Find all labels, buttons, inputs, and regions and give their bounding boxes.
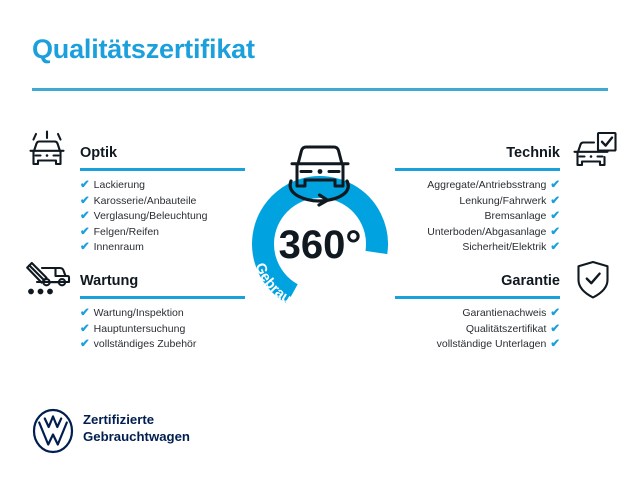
list-item: vollständige Unterlagen✔ bbox=[388, 337, 560, 353]
list-item-label: Bremsanlage bbox=[484, 210, 546, 222]
check-icon: ✔ bbox=[80, 210, 90, 222]
check-list-technik: Aggregate/Antriebsstrang✔ Lenkung/Fahrwe… bbox=[388, 178, 560, 256]
list-item-label: Garantienachweis bbox=[462, 307, 546, 319]
qualitaetszertifikat-page: Qualitätszertifikat Optik bbox=[0, 0, 640, 480]
check-icon: ✔ bbox=[550, 226, 560, 238]
check-icon: ✔ bbox=[80, 323, 90, 335]
section-title-technik: Technik bbox=[506, 145, 560, 161]
list-item-label: Karosserie/Anbauteile bbox=[94, 195, 197, 207]
list-item: ✔Felgen/Reifen bbox=[80, 225, 252, 241]
list-item-label: Unterboden/Abgasanlage bbox=[427, 226, 546, 238]
list-item: ✔Innenraum bbox=[80, 240, 252, 256]
list-item-label: Felgen/Reifen bbox=[94, 226, 159, 238]
badge-degrees-label: 360° bbox=[279, 223, 362, 267]
list-item: ✔Verglasung/Beleuchtung bbox=[80, 209, 252, 225]
list-item: ✔Lackierung bbox=[80, 178, 252, 194]
list-item: ✔Wartung/Inspektion bbox=[80, 306, 252, 322]
check-icon: ✔ bbox=[550, 241, 560, 253]
check-icon: ✔ bbox=[80, 241, 90, 253]
volkswagen-logo-icon bbox=[31, 408, 75, 454]
list-item: Qualitätszertifikat✔ bbox=[388, 322, 560, 338]
check-list-wartung: ✔Wartung/Inspektion ✔Hauptuntersuchung ✔… bbox=[80, 306, 252, 353]
list-item-label: Qualitätszertifikat bbox=[466, 323, 547, 335]
list-item: Lenkung/Fahrwerk✔ bbox=[388, 194, 560, 210]
list-item-label: Lenkung/Fahrwerk bbox=[459, 195, 546, 207]
footer-line-2: Gebrauchtwagen bbox=[83, 428, 190, 445]
list-item: Sicherheit/Elektrik✔ bbox=[388, 240, 560, 256]
check-icon: ✔ bbox=[80, 338, 90, 350]
list-item-label: vollständige Unterlagen bbox=[437, 338, 547, 350]
car-checkbox-icon bbox=[568, 130, 618, 176]
page-title: Qualitätszertifikat bbox=[32, 34, 255, 65]
list-item-label: Aggregate/Antriebsstrang bbox=[427, 179, 546, 191]
footer-line-1: Zertifizierte bbox=[83, 411, 190, 428]
section-divider-wartung bbox=[80, 296, 245, 299]
section-divider-technik bbox=[395, 168, 560, 171]
list-item: Garantienachweis✔ bbox=[388, 306, 560, 322]
section-header-technik: Technik bbox=[388, 130, 618, 178]
list-item-label: Lackierung bbox=[94, 179, 145, 191]
list-item: Unterboden/Abgasanlage✔ bbox=[388, 225, 560, 241]
check-icon: ✔ bbox=[80, 179, 90, 191]
shield-check-icon bbox=[568, 258, 618, 304]
section-title-optik: Optik bbox=[80, 145, 117, 161]
section-technik: Technik Aggregate/Antriebsstrang✔ Lenkun… bbox=[388, 130, 618, 256]
section-garantie: Garantie Garantienachweis✔ Qualitätszert… bbox=[388, 258, 618, 353]
service-pen-car-icon bbox=[22, 258, 72, 304]
check-list-optik: ✔Lackierung ✔Karosserie/Anbauteile ✔Verg… bbox=[80, 178, 252, 256]
check-icon: ✔ bbox=[550, 307, 560, 319]
list-item-label: Verglasung/Beleuchtung bbox=[94, 210, 208, 222]
footer-lockup-text: Zertifizierte Gebrauchtwagen bbox=[83, 411, 190, 445]
list-item: ✔Karosserie/Anbauteile bbox=[80, 194, 252, 210]
badge-360-gebrauchtwagen-check: 360° Gebrauchtwagen-Check bbox=[228, 118, 412, 318]
section-divider-garantie bbox=[395, 296, 560, 299]
list-item: ✔Hauptuntersuchung bbox=[80, 322, 252, 338]
check-icon: ✔ bbox=[550, 338, 560, 350]
check-list-garantie: Garantienachweis✔ Qualitätszertifikat✔ v… bbox=[388, 306, 560, 353]
list-item-label: Sicherheit/Elektrik bbox=[462, 241, 546, 253]
list-item-label: Innenraum bbox=[94, 241, 144, 253]
header-divider bbox=[32, 88, 608, 91]
section-header-optik: Optik bbox=[22, 130, 252, 178]
section-title-wartung: Wartung bbox=[80, 273, 138, 289]
check-icon: ✔ bbox=[550, 195, 560, 207]
car-shine-icon bbox=[22, 130, 72, 176]
list-item: Aggregate/Antriebsstrang✔ bbox=[388, 178, 560, 194]
list-item-label: Hauptuntersuchung bbox=[94, 323, 186, 335]
check-icon: ✔ bbox=[80, 307, 90, 319]
list-item-label: Wartung/Inspektion bbox=[94, 307, 184, 319]
list-item: Bremsanlage✔ bbox=[388, 209, 560, 225]
check-icon: ✔ bbox=[550, 210, 560, 222]
check-icon: ✔ bbox=[550, 323, 560, 335]
check-icon: ✔ bbox=[80, 195, 90, 207]
check-icon: ✔ bbox=[80, 226, 90, 238]
check-icon: ✔ bbox=[550, 179, 560, 191]
section-wartung: Wartung ✔Wartung/Inspektion ✔Hauptunters… bbox=[22, 258, 252, 353]
section-optik: Optik ✔Lackierung ✔Karosserie/Anbauteile… bbox=[22, 130, 252, 256]
list-item: ✔vollständiges Zubehör bbox=[80, 337, 252, 353]
section-header-wartung: Wartung bbox=[22, 258, 252, 306]
list-item-label: vollständiges Zubehör bbox=[94, 338, 197, 350]
section-title-garantie: Garantie bbox=[501, 273, 560, 289]
section-divider-optik bbox=[80, 168, 245, 171]
section-header-garantie: Garantie bbox=[388, 258, 618, 306]
